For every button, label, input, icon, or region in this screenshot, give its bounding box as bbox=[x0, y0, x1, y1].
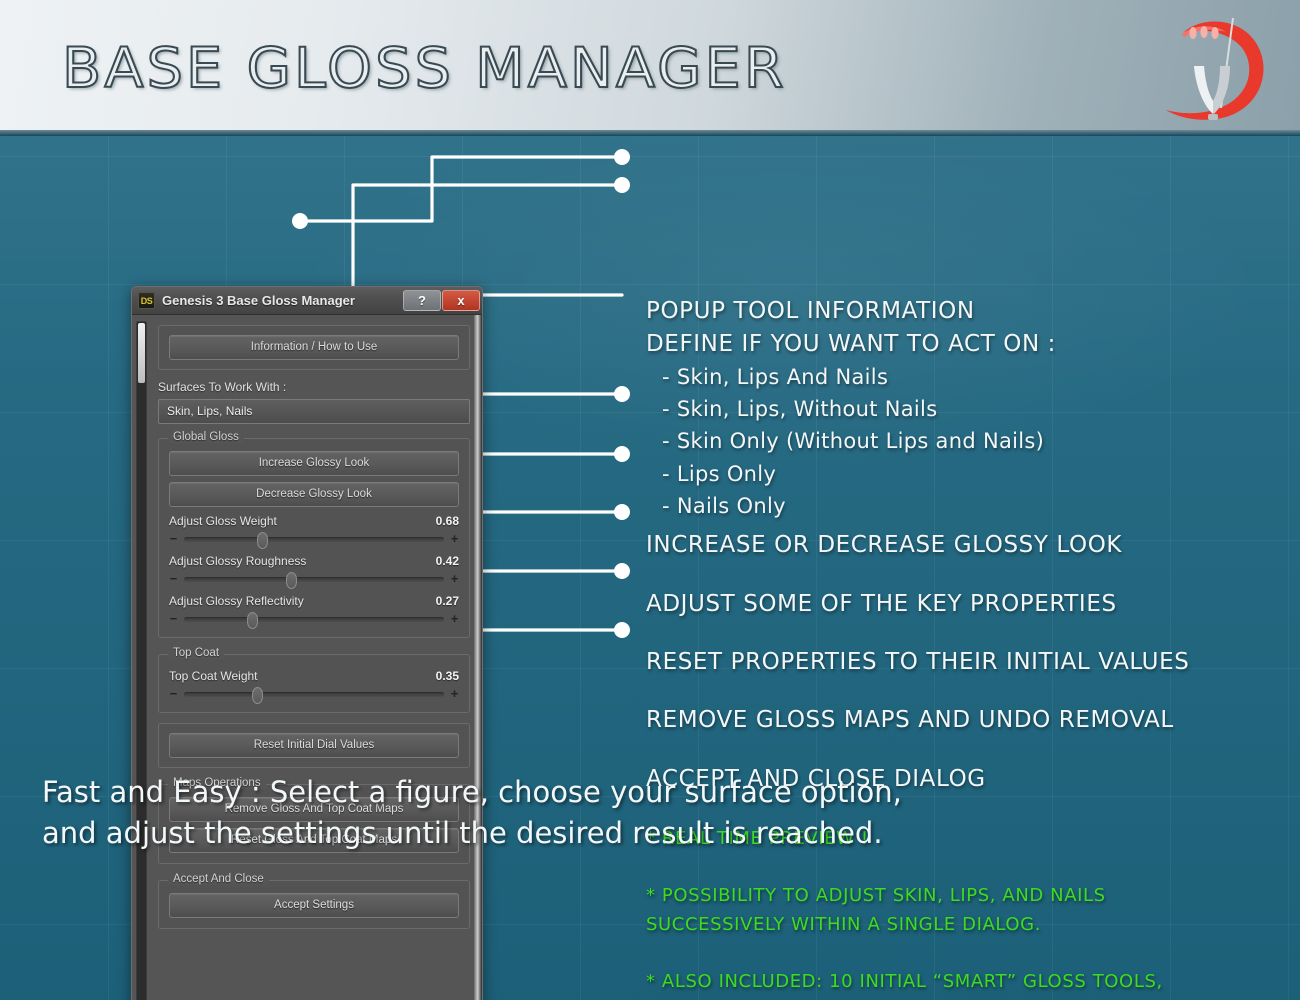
surfaces-dropdown[interactable]: Skin, Lips, Nails bbox=[158, 399, 470, 424]
annotation-label: - Skin, Lips, Without Nails bbox=[662, 397, 937, 421]
gloss-weight-minus-icon[interactable]: − bbox=[169, 534, 178, 544]
glossy-reflectivity-knob[interactable] bbox=[247, 612, 258, 629]
reset-dials-panel: Reset Initial Dial Values bbox=[158, 723, 470, 768]
annotation-label: - Skin, Lips And Nails bbox=[662, 365, 888, 389]
gloss-weight-label: Adjust Gloss Weight bbox=[169, 514, 277, 528]
glossy-roughness-knob[interactable] bbox=[286, 572, 297, 589]
annotation-label: ADJUST SOME OF THE KEY PROPERTIES bbox=[646, 591, 1117, 617]
daz-studio-icon: DS bbox=[138, 292, 155, 309]
glossy-roughness-value: 0.42 bbox=[436, 554, 459, 568]
surfaces-label: Surfaces To Work With : bbox=[158, 380, 470, 394]
poster-page: BASE GLOSS MANAGER bbox=[0, 0, 1300, 1000]
dialog-right-edge bbox=[474, 315, 482, 1000]
glossy-roughness-track[interactable] bbox=[184, 577, 444, 582]
annotation-label: RESET PROPERTIES TO THEIR INITIAL VALUES bbox=[646, 649, 1189, 675]
top-coat-weight-label: Top Coat Weight bbox=[169, 669, 258, 683]
close-button[interactable]: x bbox=[442, 290, 480, 311]
daz-swoosh-logo-icon bbox=[1142, 4, 1282, 132]
header-banner: BASE GLOSS MANAGER bbox=[0, 0, 1300, 136]
help-button[interactable]: ? bbox=[403, 290, 441, 311]
annotation-label: - Nails Only bbox=[662, 494, 786, 518]
top-coat-weight-track[interactable] bbox=[184, 692, 444, 697]
glossy-roughness-plus-icon[interactable]: + bbox=[450, 574, 459, 584]
gloss-weight-knob[interactable] bbox=[257, 532, 268, 549]
page-title: BASE GLOSS MANAGER bbox=[62, 36, 787, 100]
gloss-weight-slider-row: Adjust Gloss Weight 0.68 − + bbox=[169, 514, 459, 547]
annotation-label: - Skin Only (Without Lips and Nails) bbox=[662, 429, 1044, 453]
reset-initial-dial-values-button[interactable]: Reset Initial Dial Values bbox=[169, 733, 459, 758]
annotation-label: DEFINE IF YOU WANT TO ACT ON : bbox=[646, 331, 1056, 357]
glossy-roughness-label: Adjust Glossy Roughness bbox=[169, 554, 306, 568]
increase-glossy-look-button[interactable]: Increase Glossy Look bbox=[169, 451, 459, 476]
glossy-reflectivity-minus-icon[interactable]: − bbox=[169, 614, 178, 624]
top-coat-weight-plus-icon[interactable]: + bbox=[450, 689, 459, 699]
glossy-reflectivity-label: Adjust Glossy Reflectivity bbox=[169, 594, 304, 608]
top-coat-weight-knob[interactable] bbox=[252, 687, 263, 704]
glossy-roughness-slider-row: Adjust Glossy Roughness 0.42 − + bbox=[169, 554, 459, 587]
bottom-caption: Fast and Easy : Select a figure, choose … bbox=[42, 772, 902, 854]
annotation-label: POPUP TOOL INFORMATION bbox=[646, 298, 975, 324]
accept-and-close-group: Accept And Close Accept Settings bbox=[158, 880, 470, 929]
global-gloss-group: Global Gloss Increase Glossy Look Decrea… bbox=[158, 438, 470, 638]
global-gloss-title: Global Gloss bbox=[168, 431, 244, 443]
glossy-reflectivity-slider-row: Adjust Glossy Reflectivity 0.27 − + bbox=[169, 594, 459, 627]
top-coat-title: Top Coat bbox=[168, 647, 224, 659]
gloss-weight-track[interactable] bbox=[184, 537, 444, 542]
dialog-title: Genesis 3 Base Gloss Manager bbox=[162, 293, 402, 308]
glossy-reflectivity-value: 0.27 bbox=[436, 594, 459, 608]
gloss-weight-plus-icon[interactable]: + bbox=[450, 534, 459, 544]
gloss-manager-dialog[interactable]: DS Genesis 3 Base Gloss Manager ? x Info… bbox=[131, 286, 483, 1000]
information-how-to-use-button[interactable]: Information / How to Use bbox=[169, 335, 459, 360]
feature-note: SUCCESSIVELY WITHIN A SINGLE DIALOG. bbox=[646, 914, 1041, 935]
scrollbar-thumb[interactable] bbox=[138, 323, 145, 383]
dialog-body: Information / How to Use Surfaces To Wor… bbox=[132, 315, 482, 1000]
feature-note: * ALSO INCLUDED: 10 INITIAL “SMART” GLOS… bbox=[646, 971, 1163, 992]
top-coat-group: Top Coat Top Coat Weight 0.35 − + bbox=[158, 654, 470, 713]
annotation-label: - Lips Only bbox=[662, 462, 776, 486]
annotation-label: INCREASE OR DECREASE GLOSSY LOOK bbox=[646, 532, 1122, 558]
gloss-weight-value: 0.68 bbox=[436, 514, 459, 528]
accept-settings-button[interactable]: Accept Settings bbox=[169, 893, 459, 918]
top-coat-weight-value: 0.35 bbox=[436, 669, 459, 683]
top-coat-weight-slider-row: Top Coat Weight 0.35 − + bbox=[169, 669, 459, 702]
blueprint-canvas: DS Genesis 3 Base Gloss Manager ? x Info… bbox=[0, 136, 1300, 1000]
vertical-scrollbar[interactable] bbox=[136, 321, 147, 1000]
feature-note: * POSSIBILITY TO ADJUST SKIN, LIPS, AND … bbox=[646, 885, 1106, 906]
glossy-roughness-minus-icon[interactable]: − bbox=[169, 574, 178, 584]
top-coat-weight-minus-icon[interactable]: − bbox=[169, 689, 178, 699]
information-panel: Information / How to Use bbox=[158, 325, 470, 370]
glossy-reflectivity-plus-icon[interactable]: + bbox=[450, 614, 459, 624]
accept-and-close-title: Accept And Close bbox=[168, 873, 269, 885]
decrease-glossy-look-button[interactable]: Decrease Glossy Look bbox=[169, 482, 459, 507]
glossy-reflectivity-track[interactable] bbox=[184, 617, 444, 622]
annotation-label: REMOVE GLOSS MAPS AND UNDO REMOVAL bbox=[646, 707, 1174, 733]
dialog-titlebar[interactable]: DS Genesis 3 Base Gloss Manager ? x bbox=[132, 287, 482, 315]
